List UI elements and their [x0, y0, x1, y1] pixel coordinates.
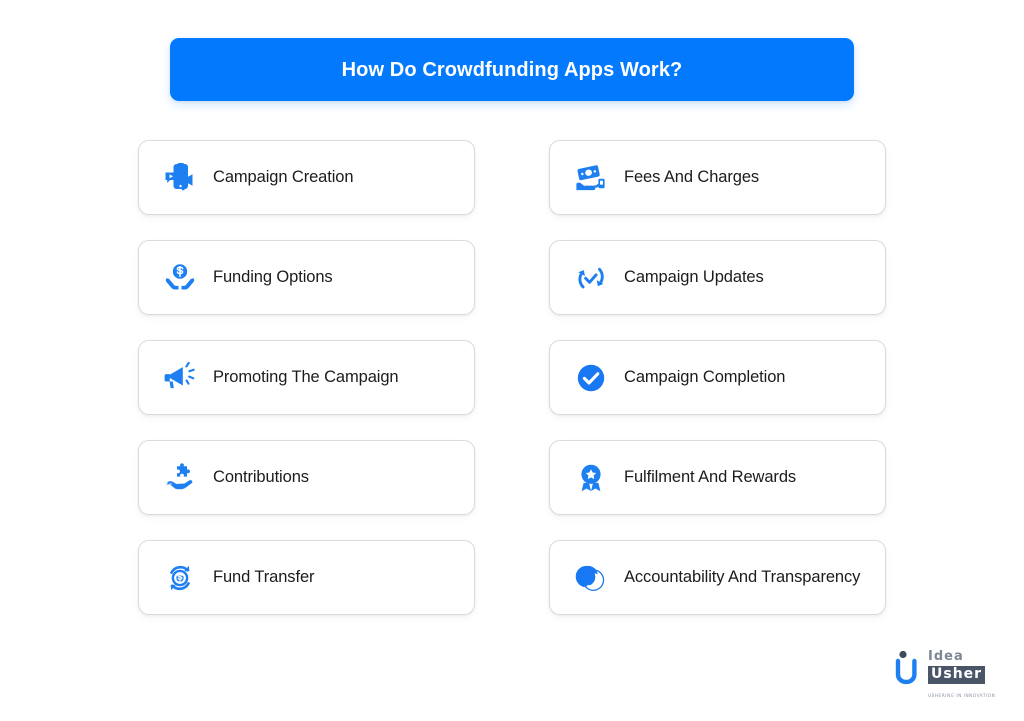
- page-title: How Do Crowdfunding Apps Work?: [342, 58, 683, 82]
- card-accountability-and-transparency[interactable]: Accountability And Transparency: [549, 540, 886, 615]
- refresh-check-icon: [572, 259, 610, 297]
- card-campaign-creation[interactable]: Campaign Creation: [138, 140, 475, 215]
- logo-u-mark-icon: [894, 649, 926, 694]
- award-ribbon-star-icon: [572, 459, 610, 497]
- card-label: Fulfilment And Rewards: [624, 467, 796, 488]
- card-label: Campaign Completion: [624, 367, 785, 388]
- header-banner: How Do Crowdfunding Apps Work?: [170, 38, 854, 101]
- card-label: Accountability And Transparency: [624, 567, 860, 588]
- phone-megaphone-icon: [161, 159, 199, 197]
- hand-banknote-card-icon: [572, 159, 610, 197]
- card-label: Promoting The Campaign: [213, 367, 399, 388]
- card-promoting-the-campaign[interactable]: Promoting The Campaign: [138, 340, 475, 415]
- card-label: Funding Options: [213, 267, 333, 288]
- hand-puzzle-piece-icon: [161, 459, 199, 497]
- hands-holding-coin-icon: [161, 259, 199, 297]
- logo-wordmark: Idea Usher USHERING IN INNOVATION: [928, 647, 994, 702]
- coin-transfer-arrows-icon: [161, 559, 199, 597]
- card-fulfilment-and-rewards[interactable]: Fulfilment And Rewards: [549, 440, 886, 515]
- logo-tagline: USHERING IN INNOVATION: [928, 693, 995, 698]
- left-column: Campaign Creation Funding Options: [138, 140, 475, 615]
- card-label: Campaign Creation: [213, 167, 353, 188]
- card-label: Campaign Updates: [624, 267, 764, 288]
- check-circle-icon: [572, 359, 610, 397]
- card-fund-transfer[interactable]: Fund Transfer: [138, 540, 475, 615]
- feature-card-grid: Campaign Creation Funding Options: [138, 140, 886, 615]
- card-label: Contributions: [213, 467, 309, 488]
- idea-usher-logo[interactable]: Idea Usher USHERING IN INNOVATION: [894, 645, 994, 693]
- card-fees-and-charges[interactable]: Fees And Charges: [549, 140, 886, 215]
- card-label: Fees And Charges: [624, 167, 759, 188]
- megaphone-icon: [161, 359, 199, 397]
- logo-word-usher: Usher: [928, 666, 985, 684]
- card-funding-options[interactable]: Funding Options: [138, 240, 475, 315]
- overlapping-circles-icon: [572, 559, 610, 597]
- card-label: Fund Transfer: [213, 567, 314, 588]
- logo-word-idea: Idea: [928, 649, 964, 664]
- card-campaign-updates[interactable]: Campaign Updates: [549, 240, 886, 315]
- card-contributions[interactable]: Contributions: [138, 440, 475, 515]
- right-column: Fees And Charges Campaign Updates: [549, 140, 886, 615]
- card-campaign-completion[interactable]: Campaign Completion: [549, 340, 886, 415]
